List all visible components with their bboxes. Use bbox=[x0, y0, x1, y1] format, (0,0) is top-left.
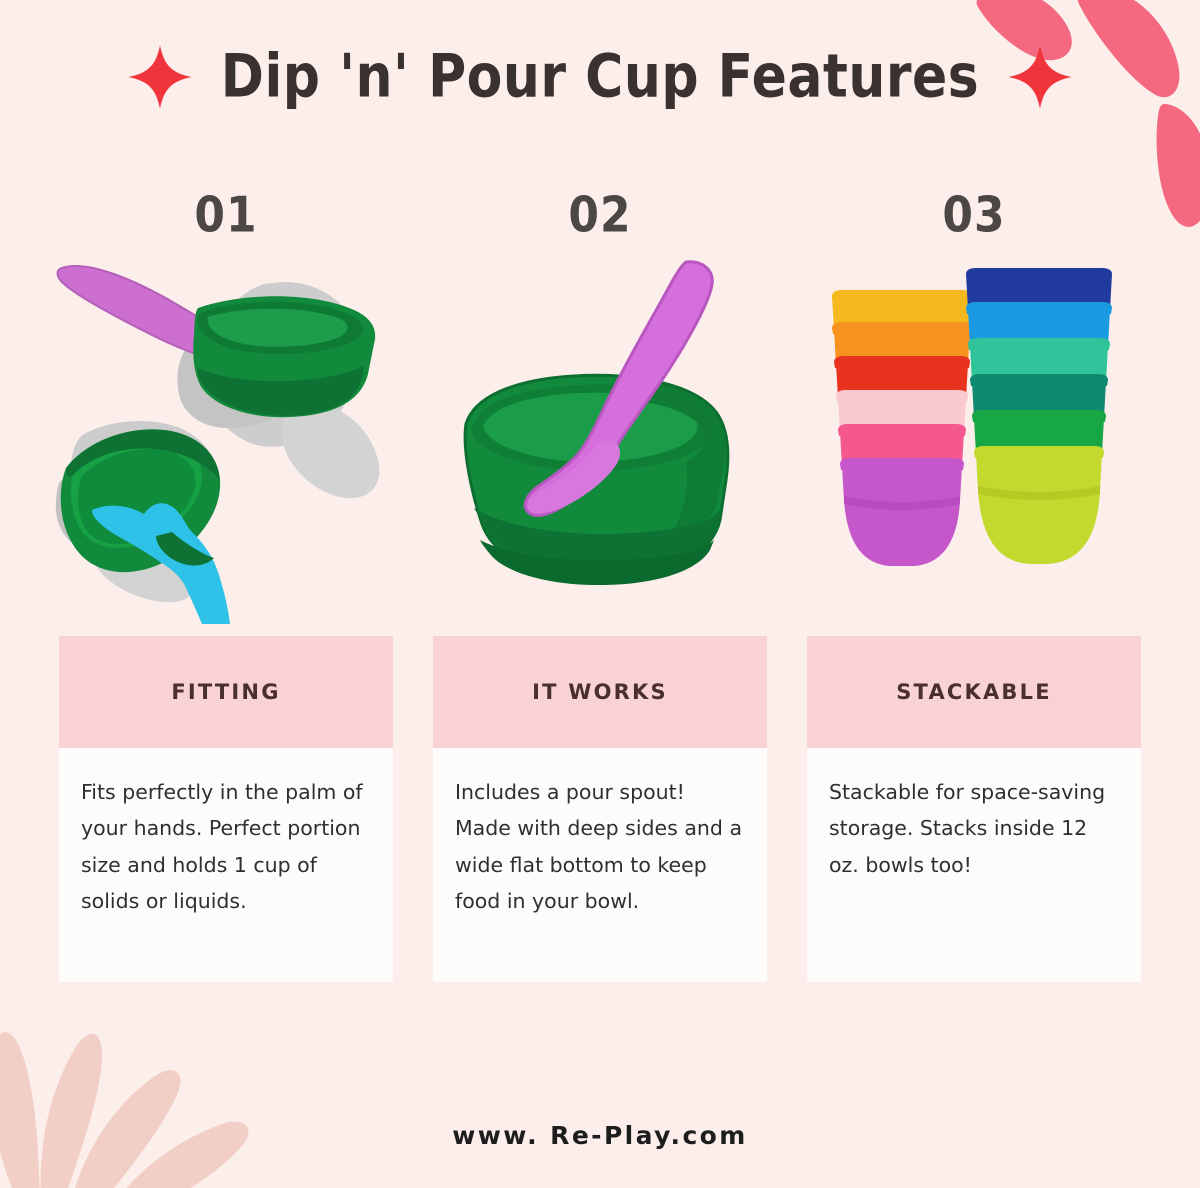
step-number-03: 03 bbox=[942, 176, 1005, 257]
card-header-fitting: FITTING bbox=[59, 636, 393, 748]
feature-column-stackable: 03 bbox=[800, 180, 1148, 1080]
bowl-stack-left bbox=[832, 290, 972, 566]
card-body-fitting: Fits perfectly in the palm of your hands… bbox=[59, 748, 393, 982]
card-body-stackable: Stackable for space-saving storage. Stac… bbox=[807, 748, 1141, 982]
card-body-text: Includes a pour spout! Made with deep si… bbox=[455, 774, 745, 920]
feature-card-fitting: FITTING Fits perfectly in the palm of yo… bbox=[59, 636, 393, 982]
feature-column-it-works: 02 bbox=[426, 180, 774, 1080]
card-header-label: FITTING bbox=[171, 680, 280, 704]
feature-card-stackable: STACKABLE Stackable for space-saving sto… bbox=[807, 636, 1141, 982]
card-header-stackable: STACKABLE bbox=[807, 636, 1141, 748]
card-header-label: STACKABLE bbox=[896, 680, 1052, 704]
feature-columns: 01 bbox=[0, 180, 1200, 1080]
infographic-canvas: Dip 'n' Pour Cup Features 01 bbox=[0, 0, 1200, 1188]
illustration-stacked-bowls bbox=[800, 252, 1148, 636]
website-url[interactable]: www. Re-Play.com bbox=[452, 1121, 747, 1150]
step-number-01: 01 bbox=[194, 176, 257, 257]
title-row: Dip 'n' Pour Cup Features bbox=[0, 34, 1200, 120]
card-body-text: Stackable for space-saving storage. Stac… bbox=[829, 774, 1119, 883]
footer: www. Re-Play.com bbox=[0, 1121, 1200, 1150]
feature-column-fitting: 01 bbox=[52, 180, 400, 1080]
bowl-upper bbox=[193, 296, 375, 417]
stack-bowl-right-6 bbox=[974, 446, 1104, 564]
card-body-it-works: Includes a pour spout! Made with deep si… bbox=[433, 748, 767, 982]
step-number-02: 02 bbox=[568, 176, 631, 257]
feature-card-it-works: IT WORKS Includes a pour spout! Made wit… bbox=[433, 636, 767, 982]
card-body-text: Fits perfectly in the palm of your hands… bbox=[81, 774, 371, 920]
page-title: Dip 'n' Pour Cup Features bbox=[221, 43, 979, 111]
sparkle-icon-left bbox=[127, 40, 193, 114]
illustration-hands-holding-and-pouring-bowl bbox=[52, 252, 400, 636]
bowl-stack-right bbox=[966, 268, 1112, 564]
card-header-label: IT WORKS bbox=[532, 680, 668, 704]
sparkle-icon-right bbox=[1007, 40, 1073, 114]
illustration-bowl-with-spoon bbox=[426, 252, 774, 636]
card-header-it-works: IT WORKS bbox=[433, 636, 767, 748]
stack-bowl-left-6 bbox=[840, 458, 964, 566]
